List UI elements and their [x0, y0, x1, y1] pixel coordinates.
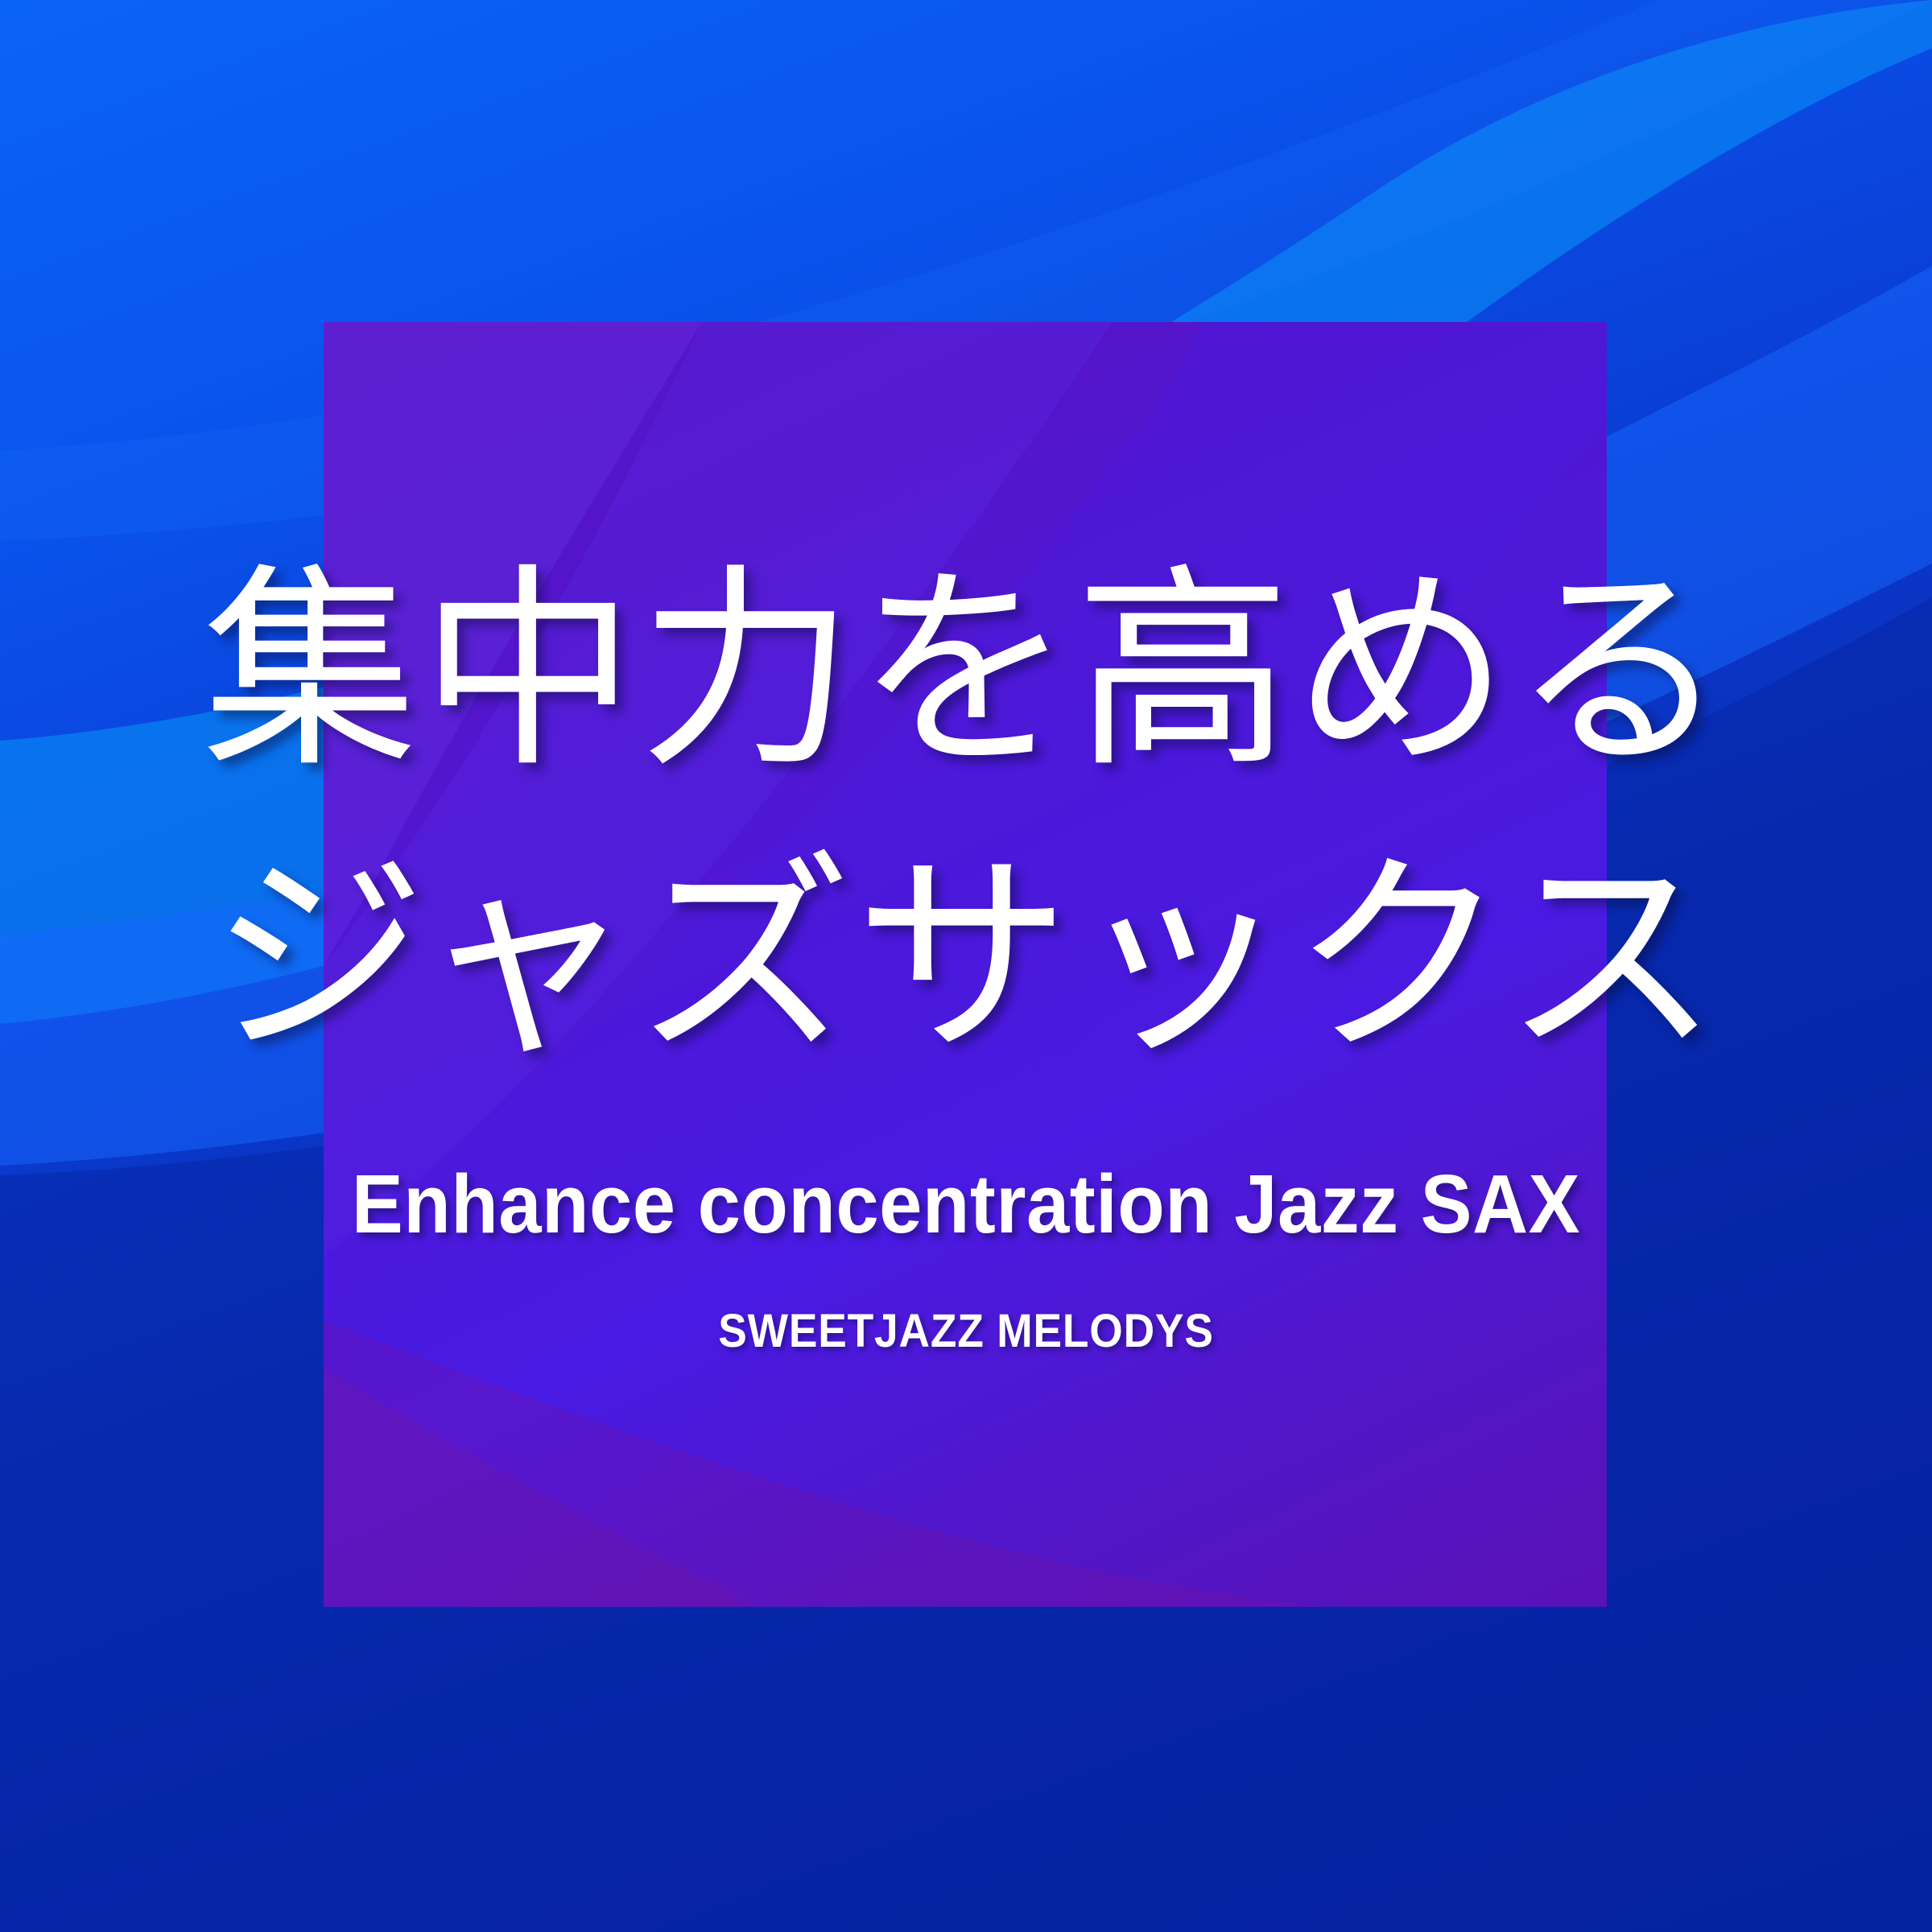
title-japanese-line-2: ジャズサックス — [0, 850, 1932, 1066]
title-japanese-line-1: 集中力を高める — [0, 563, 1932, 779]
text-layer: 集中力を高める ジャズサックス Enhance concentration Ja… — [0, 0, 1932, 1932]
album-cover-artwork: 集中力を高める ジャズサックス Enhance concentration Ja… — [0, 0, 1932, 1932]
subtitle-english: Enhance concentration Jazz SAX — [68, 1157, 1864, 1252]
artist-name: SWEETJAZZ MELODYS — [77, 1304, 1855, 1358]
